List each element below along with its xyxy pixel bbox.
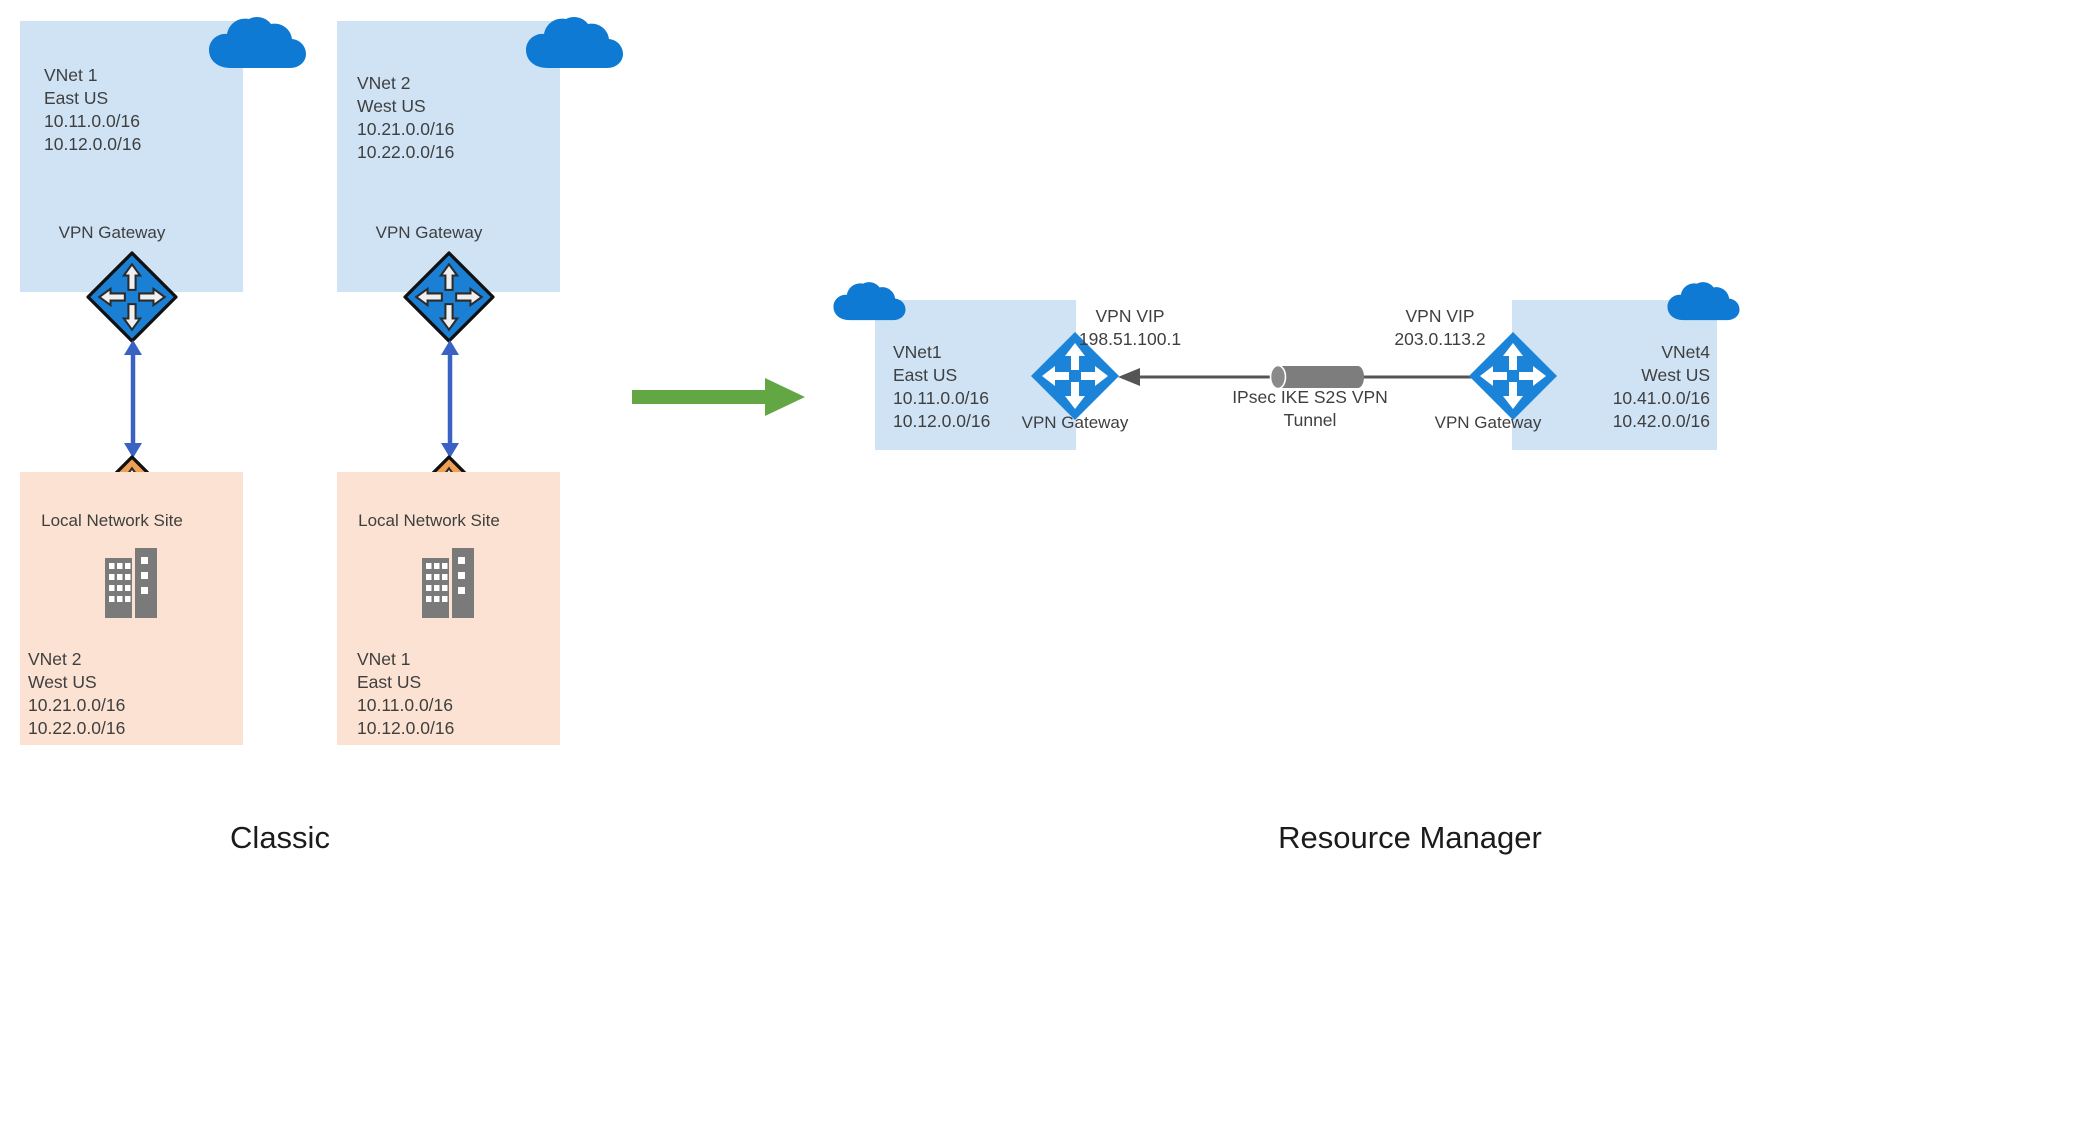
vnet-cidr-1: 10.11.0.0/16 xyxy=(893,388,989,408)
vnet-region: West US xyxy=(1641,365,1710,385)
classic-col2-local-site-label: Local Network Site xyxy=(339,511,519,531)
cloud-icon xyxy=(524,16,625,70)
rm-right-vip-label: VPN VIP203.0.113.2 xyxy=(1360,305,1520,351)
classic-col2-connector-arrow xyxy=(427,338,473,460)
building-icon xyxy=(105,548,160,620)
vip-title: VPN VIP xyxy=(1405,306,1474,326)
rm-right-vpn-gateway-label: VPN Gateway xyxy=(1398,413,1578,433)
local-vnet-cidr-2: 10.22.0.0/16 xyxy=(28,718,125,738)
classic-col1-vnet-text: VNet 1East US10.11.0.0/1610.12.0.0/16 xyxy=(44,64,234,156)
vnet-region: East US xyxy=(893,365,957,385)
vip-title: VPN VIP xyxy=(1095,306,1164,326)
vnet-cidr-1: 10.41.0.0/16 xyxy=(1613,388,1710,408)
vip-address: 203.0.113.2 xyxy=(1394,329,1485,349)
local-vnet-cidr-2: 10.12.0.0/16 xyxy=(357,718,454,738)
local-vnet-name: VNet 2 xyxy=(28,649,82,669)
classic-col1-vpn-gateway-label: VPN Gateway xyxy=(22,223,202,243)
diagram-canvas: VNet 1East US10.11.0.0/1610.12.0.0/16 VP… xyxy=(0,0,2085,1122)
local-vnet-region: East US xyxy=(357,672,421,692)
local-vnet-cidr-1: 10.21.0.0/16 xyxy=(28,695,125,715)
cloud-icon xyxy=(207,16,308,70)
tunnel-line-2: Tunnel xyxy=(1284,410,1337,430)
vnet-cidr-2: 10.22.0.0/16 xyxy=(357,142,454,162)
transition-arrow-icon xyxy=(632,375,807,419)
vnet-name: VNet 2 xyxy=(357,73,411,93)
vnet-name: VNet1 xyxy=(893,342,942,362)
cloud-icon xyxy=(832,281,907,322)
local-vnet-name: VNet 1 xyxy=(357,649,411,669)
local-vnet-cidr-1: 10.11.0.0/16 xyxy=(357,695,453,715)
classic-col2-local-text: VNet 1East US10.11.0.0/1610.12.0.0/16 xyxy=(357,648,557,740)
local-vnet-region: West US xyxy=(28,672,97,692)
vnet-cidr-1: 10.11.0.0/16 xyxy=(44,111,140,131)
vnet-cidr-2: 10.12.0.0/16 xyxy=(44,134,141,154)
rm-left-vpn-gateway-label: VPN Gateway xyxy=(1015,413,1135,433)
resource-manager-section-title: Resource Manager xyxy=(1100,820,1720,856)
vpn-gateway-icon[interactable] xyxy=(86,251,178,343)
classic-col2-vpn-gateway-label: VPN Gateway xyxy=(339,223,519,243)
vnet-cidr-2: 10.12.0.0/16 xyxy=(893,411,990,431)
building-icon xyxy=(422,548,477,620)
vnet-cidr-2: 10.42.0.0/16 xyxy=(1613,411,1710,431)
classic-col2-vnet-text: VNet 2West US10.21.0.0/1610.22.0.0/16 xyxy=(357,72,547,164)
vnet-region: West US xyxy=(357,96,426,116)
classic-col1-local-text: VNet 2West US10.21.0.0/1610.22.0.0/16 xyxy=(28,648,228,740)
classic-section-title: Classic xyxy=(170,820,390,856)
vnet-region: East US xyxy=(44,88,108,108)
classic-col1-connector-arrow xyxy=(110,338,156,460)
rm-left-vip-label: VPN VIP198.51.100.1 xyxy=(1050,305,1210,351)
tunnel-line-1: IPsec IKE S2S VPN xyxy=(1232,387,1388,407)
classic-col1-local-site-label: Local Network Site xyxy=(22,511,202,531)
vpn-gateway-icon[interactable] xyxy=(403,251,495,343)
vnet-name: VNet4 xyxy=(1661,342,1710,362)
cloud-icon xyxy=(1666,281,1741,322)
vnet-name: VNet 1 xyxy=(44,65,98,85)
vip-address: 198.51.100.1 xyxy=(1079,329,1181,349)
vnet-cidr-1: 10.21.0.0/16 xyxy=(357,119,454,139)
